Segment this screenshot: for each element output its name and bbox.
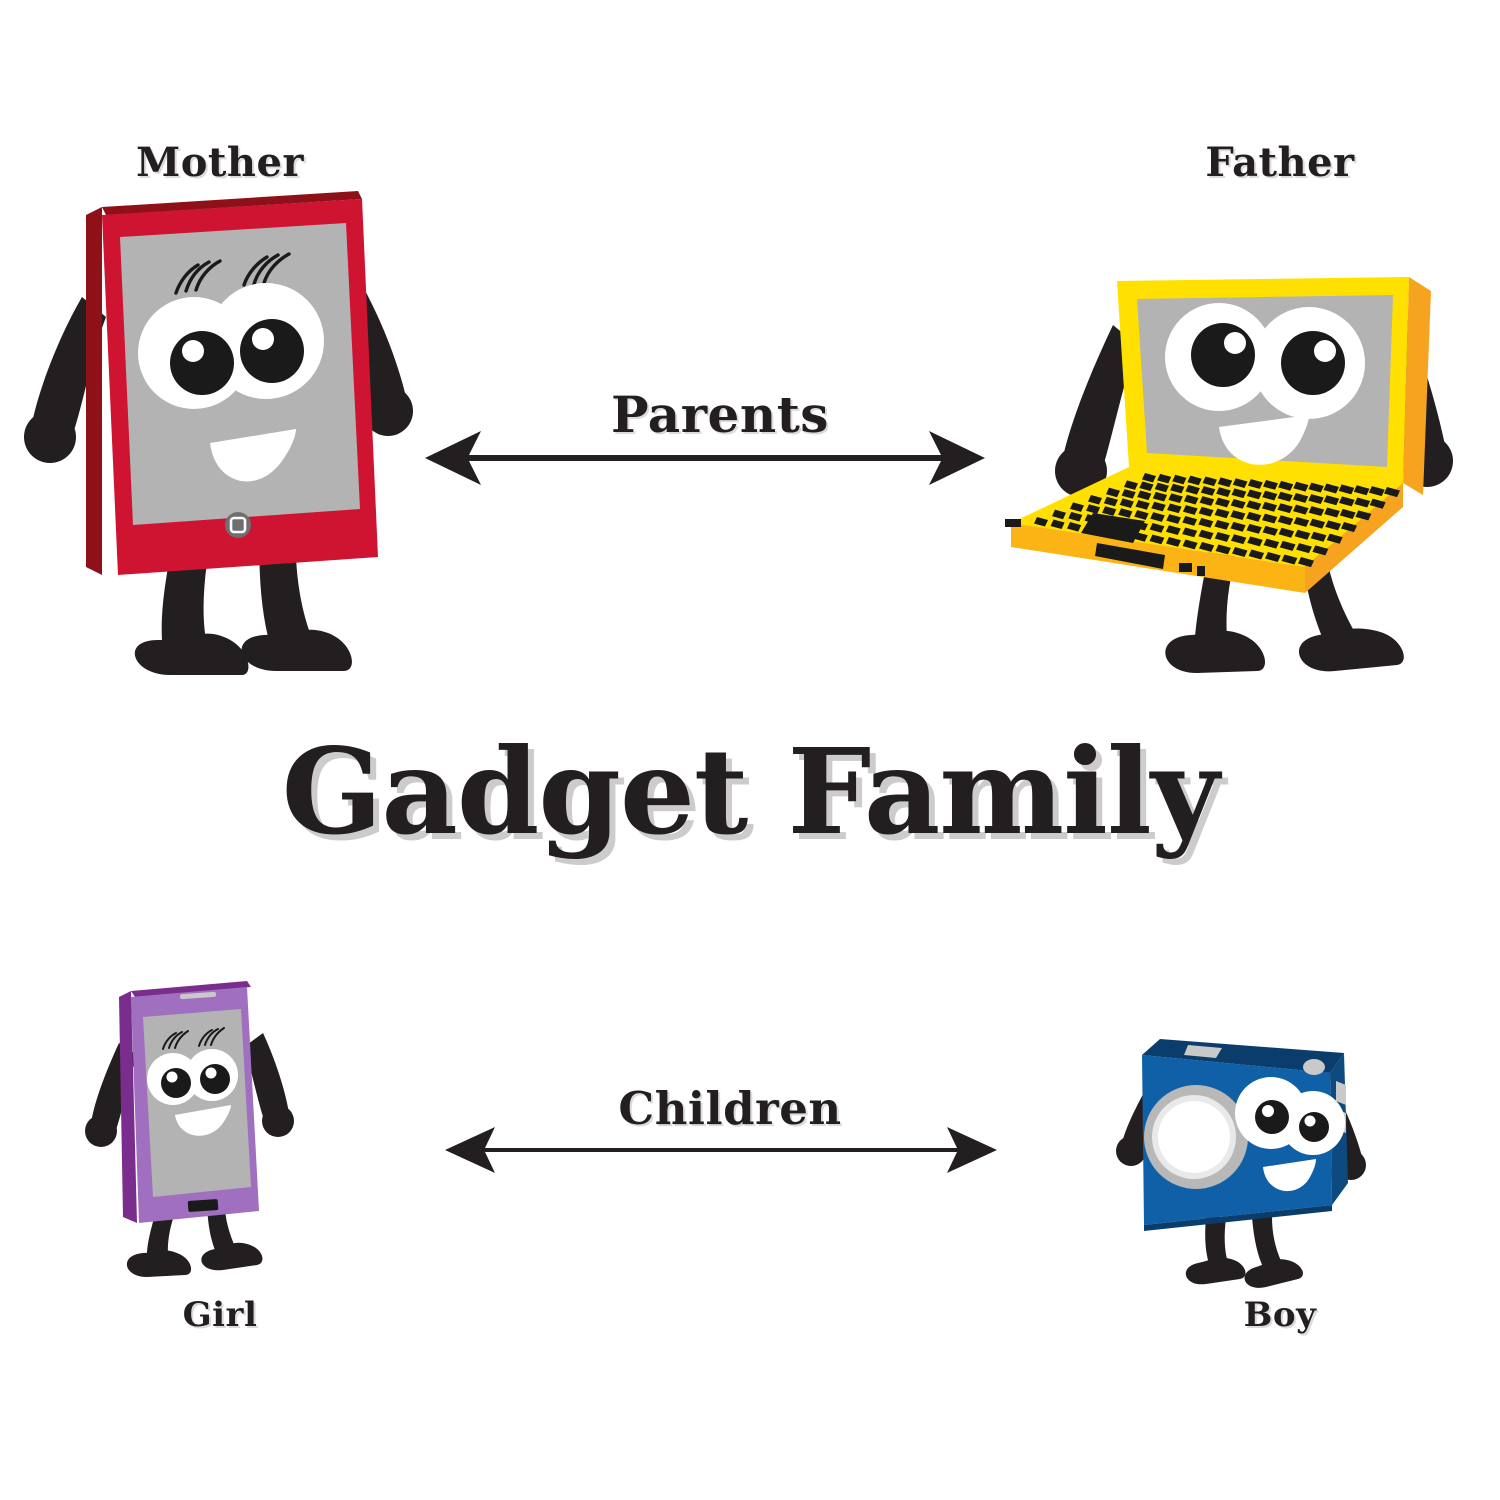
- mother-tablet-icon[interactable]: [10, 185, 430, 685]
- page-title: Gadget Family: [0, 722, 1500, 861]
- girl-label: Girl: [40, 1295, 400, 1335]
- diagram-canvas: Mother: [0, 0, 1500, 1500]
- girl-smartphone-icon[interactable]: [75, 975, 325, 1275]
- father-laptop-icon[interactable]: [1005, 195, 1475, 675]
- boy-label: Boy: [1100, 1295, 1460, 1335]
- mother-label: Mother: [0, 139, 440, 186]
- father-label: Father: [1060, 139, 1500, 186]
- parents-double-arrow-icon: [425, 425, 985, 495]
- boy-camera-icon[interactable]: [1100, 1015, 1400, 1295]
- children-double-arrow-icon: [445, 1122, 997, 1182]
